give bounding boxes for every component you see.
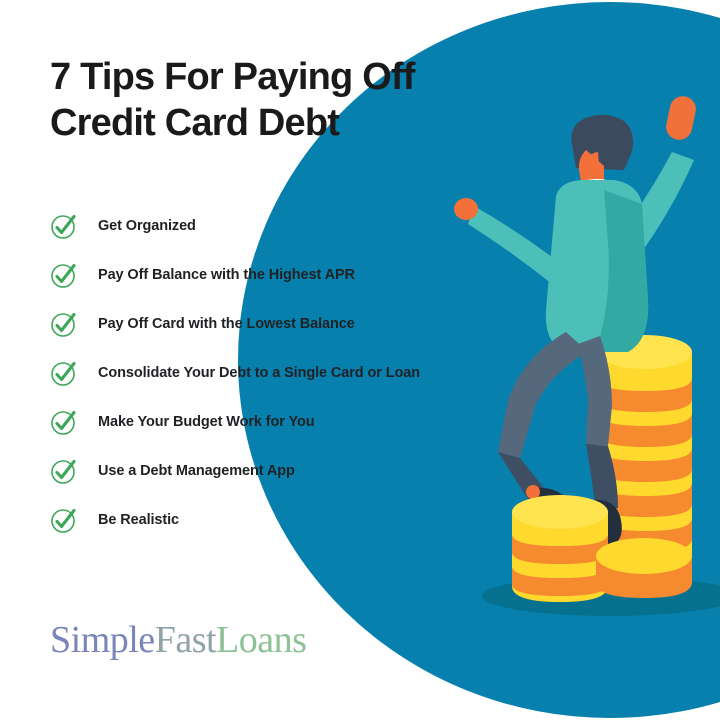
list-item-label: Use a Debt Management App	[98, 457, 295, 482]
list-item: Pay Off Card with the Lowest Balance	[50, 310, 460, 338]
list-item: Pay Off Balance with the Highest APR	[50, 261, 460, 289]
check-circle-icon	[50, 261, 78, 289]
brand-logo-part-fast: Fast	[155, 619, 216, 661]
tips-list: Get Organized Pay Off Balance with the H…	[50, 212, 460, 534]
person-right-hand	[664, 94, 699, 142]
brand-logo-part-loans: Loans	[216, 619, 306, 661]
page-title: 7 Tips For Paying Off Credit Card Debt	[50, 54, 470, 147]
check-circle-icon	[50, 310, 78, 338]
list-item-label: Be Realistic	[98, 506, 179, 531]
list-item: Be Realistic	[50, 506, 460, 534]
coin-single-front	[596, 538, 692, 598]
page-title-line-1: 7 Tips For Paying Off	[50, 54, 470, 100]
check-circle-icon	[50, 457, 78, 485]
page-title-line-2: Credit Card Debt	[50, 100, 470, 146]
list-item: Make Your Budget Work for You	[50, 408, 460, 436]
person-left-ankle	[526, 485, 540, 499]
check-circle-icon	[50, 408, 78, 436]
content-column: 7 Tips For Paying Off Credit Card Debt G…	[0, 0, 470, 720]
check-circle-icon	[50, 506, 78, 534]
infographic-poster: 7 Tips For Paying Off Credit Card Debt G…	[0, 0, 720, 720]
list-item-label: Make Your Budget Work for You	[98, 408, 315, 433]
list-item: Consolidate Your Debt to a Single Card o…	[50, 359, 460, 387]
brand-logo: SimpleFastLoans	[50, 618, 306, 662]
person-left-arm	[468, 206, 556, 284]
list-item-label: Get Organized	[98, 212, 196, 237]
list-item-label: Pay Off Balance with the Highest APR	[98, 261, 355, 286]
check-circle-icon	[50, 359, 78, 387]
list-item: Use a Debt Management App	[50, 457, 460, 485]
list-item: Get Organized	[50, 212, 460, 240]
brand-logo-part-simple: Simple	[50, 619, 155, 661]
list-item-label: Pay Off Card with the Lowest Balance	[98, 310, 355, 335]
person-left-leg-upper	[498, 332, 588, 458]
list-item-label: Consolidate Your Debt to a Single Card o…	[98, 359, 420, 384]
coin-stack-left	[512, 495, 608, 602]
check-circle-icon	[50, 212, 78, 240]
